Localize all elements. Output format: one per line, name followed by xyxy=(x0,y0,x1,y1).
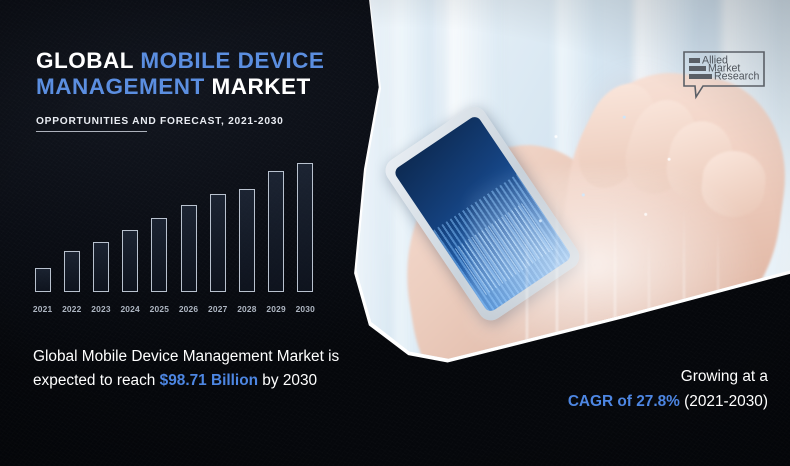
bar-column xyxy=(57,160,86,292)
x-label-2022: 2022 xyxy=(57,304,86,314)
bar-2029 xyxy=(268,171,284,292)
cagr-period: (2021-2030) xyxy=(680,393,768,410)
bar-2030 xyxy=(297,163,313,292)
bar-column xyxy=(291,160,320,292)
bar-column xyxy=(262,160,291,292)
market-forecast-statement: Global Mobile Device Management Market i… xyxy=(33,345,378,393)
allied-market-research-logo[interactable]: Allied Market Research xyxy=(681,50,767,100)
x-label-2027: 2027 xyxy=(203,304,232,314)
title-divider xyxy=(36,131,147,132)
bar-column xyxy=(116,160,145,292)
infographic-canvas: GLOBAL MOBILE DEVICE MANAGEMENT MARKET O… xyxy=(0,0,790,466)
bar-column xyxy=(145,160,174,292)
title-words-mobile-device: MOBILE DEVICE xyxy=(140,48,324,73)
cagr-line1: Growing at a xyxy=(681,368,768,385)
bar-2024 xyxy=(122,230,138,292)
claim-text-after: by 2030 xyxy=(258,372,317,389)
bar-2021 xyxy=(35,268,51,292)
subtitle: OPPORTUNITIES AND FORECAST, 2021-2030 xyxy=(36,116,284,127)
bar-2023 xyxy=(93,242,109,292)
bar-column xyxy=(174,160,203,292)
bar-chart: 2021202220232024202520262027202820292030 xyxy=(28,160,320,320)
bar-2022 xyxy=(64,251,80,292)
bar-chart-x-axis-labels: 2021202220232024202520262027202820292030 xyxy=(28,304,320,314)
bar-2028 xyxy=(239,189,255,292)
bar-2027 xyxy=(210,194,226,292)
x-label-2023: 2023 xyxy=(86,304,115,314)
page-title: GLOBAL MOBILE DEVICE MANAGEMENT MARKET xyxy=(36,48,326,100)
cagr-statement: Growing at a CAGR of 27.8% (2021-2030) xyxy=(438,364,768,414)
title-word-management: MANAGEMENT xyxy=(36,74,205,99)
claim-value: $98.71 Billion xyxy=(160,372,258,389)
bar-column xyxy=(203,160,232,292)
bar-column xyxy=(28,160,57,292)
cagr-value: CAGR of 27.8% xyxy=(568,393,680,410)
x-label-2028: 2028 xyxy=(232,304,261,314)
x-label-2029: 2029 xyxy=(262,304,291,314)
speech-bubble-bar-chart-icon: Allied Market Research xyxy=(681,50,767,100)
title-word-market: MARKET xyxy=(205,74,311,99)
bar-2026 xyxy=(181,205,197,292)
title-word-global: GLOBAL xyxy=(36,48,140,73)
x-label-2021: 2021 xyxy=(28,304,57,314)
bar-2025 xyxy=(151,218,167,292)
x-label-2024: 2024 xyxy=(116,304,145,314)
x-label-2025: 2025 xyxy=(145,304,174,314)
bar-column xyxy=(232,160,261,292)
x-label-2026: 2026 xyxy=(174,304,203,314)
bar-column xyxy=(86,160,115,292)
logo-line-3: Research xyxy=(714,70,759,82)
bar-chart-bars xyxy=(28,160,320,292)
x-label-2030: 2030 xyxy=(291,304,320,314)
